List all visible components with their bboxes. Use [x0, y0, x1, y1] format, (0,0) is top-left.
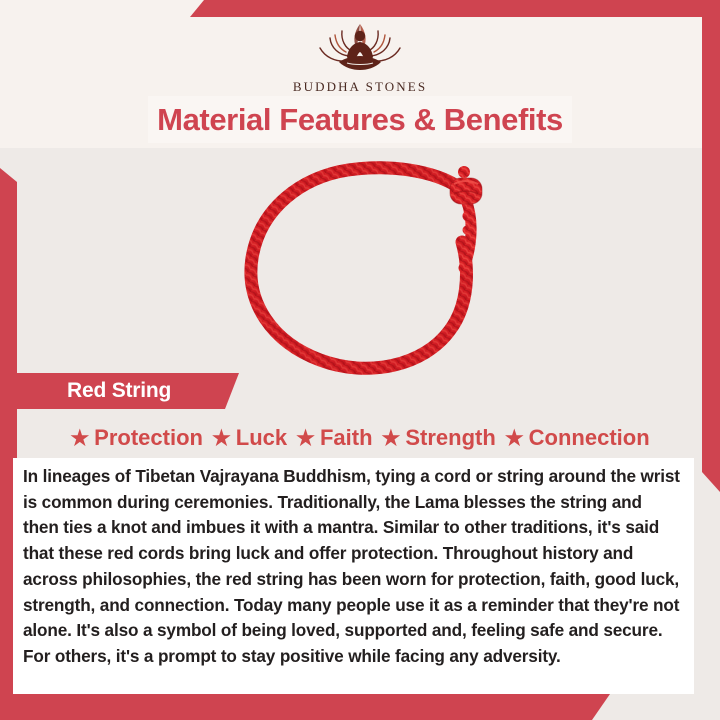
brand-name: BUDDHA STONES [293, 79, 427, 95]
benefits-list: ★ Protection ★ Luck ★ Faith ★ Strength ★… [17, 418, 703, 458]
page-title: Material Features & Benefits [157, 102, 563, 138]
star-icon: ★ [70, 428, 89, 449]
star-icon: ★ [296, 428, 315, 449]
product-name-banner: Red String [17, 373, 239, 409]
red-braided-string-bracelet-icon [228, 150, 512, 382]
top-red-ribbon [190, 0, 720, 17]
star-icon: ★ [505, 428, 524, 449]
benefit-item-faith: ★ Faith [296, 425, 372, 451]
product-name-label: Red String [67, 379, 171, 403]
star-icon: ★ [382, 428, 401, 449]
benefit-item-protection: ★ Protection [70, 425, 203, 451]
star-icon: ★ [212, 428, 231, 449]
benefit-item-connection: ★ Connection [505, 425, 650, 451]
bottom-red-bar [0, 694, 610, 720]
infographic-poster: BUDDHA STONES Material Features & Benefi… [0, 0, 720, 720]
benefit-item-strength: ★ Strength [382, 425, 496, 451]
benefit-label: Protection [94, 425, 203, 451]
benefit-label: Faith [320, 425, 373, 451]
product-image [228, 150, 512, 382]
brand-logo: BUDDHA STONES [0, 18, 720, 95]
lotus-meditation-icon [301, 18, 419, 76]
benefit-label: Strength [405, 425, 495, 451]
description-text: In lineages of Tibetan Vajrayana Buddhis… [23, 464, 682, 670]
benefit-label: Luck [236, 425, 287, 451]
benefit-item-luck: ★ Luck [212, 425, 287, 451]
benefit-label: Connection [529, 425, 650, 451]
title-banner: Material Features & Benefits [148, 96, 572, 143]
description-panel: In lineages of Tibetan Vajrayana Buddhis… [13, 458, 694, 694]
